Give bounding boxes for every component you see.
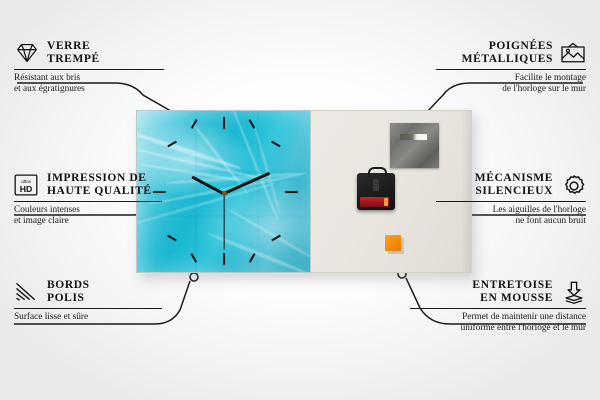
callout-description: Résistant aux bris et aux égratignures xyxy=(14,73,164,96)
callout-description: Permet de maintenir une distance uniform… xyxy=(410,312,586,335)
callout-rule xyxy=(436,69,586,70)
callout-mecanisme-silencieux[interactable]: MÉCANISME SILENCIEUX Les aiguilles de l'… xyxy=(436,172,586,228)
callout-rule xyxy=(436,201,586,202)
callout-entretoise-en-mousse[interactable]: ENTRETOISE EN MOUSSE Permet de maintenir… xyxy=(410,279,586,335)
clock-mechanism xyxy=(357,173,395,210)
picture-frame-icon xyxy=(560,42,586,64)
battery-terminal xyxy=(384,198,388,206)
product-image xyxy=(136,110,472,275)
battery xyxy=(360,197,389,207)
mechanism-hook xyxy=(368,167,387,177)
callout-title: POIGNÉES MÉTALLIQUES xyxy=(462,40,553,66)
gear-icon xyxy=(560,174,586,196)
callout-rule xyxy=(410,308,586,309)
arrow-down-layers-icon xyxy=(560,281,586,303)
callout-rule xyxy=(14,201,162,202)
callout-title: VERRE TREMPÉ xyxy=(47,40,100,66)
callout-description: Couleurs intenses et image claire xyxy=(14,205,164,228)
infographic-canvas: VERRE TREMPÉ Résistant aux bris et aux é… xyxy=(0,0,600,400)
callout-description: Facilite le montage de l'horloge sur le … xyxy=(436,73,586,96)
callout-title: BORDS POLIS xyxy=(47,279,90,305)
svg-text:HD: HD xyxy=(20,184,33,194)
foam-spacer xyxy=(385,235,401,251)
callout-rule xyxy=(14,308,162,309)
callout-verre-trempe[interactable]: VERRE TREMPÉ Résistant aux bris et aux é… xyxy=(14,40,164,96)
hanger-plate xyxy=(390,123,439,168)
callout-title: ENTRETOISE EN MOUSSE xyxy=(472,279,553,305)
callout-impression-haute-qualite[interactable]: ultra HD IMPRESSION DE HAUTE QUALITÉ Cou… xyxy=(14,172,164,228)
polished-edge-icon xyxy=(14,281,40,303)
callout-description: Surface lisse et sûre xyxy=(14,312,164,323)
callout-title: MÉCANISME SILENCIEUX xyxy=(475,172,553,198)
callout-rule xyxy=(14,69,164,70)
tick-mark xyxy=(223,117,225,129)
callout-description: Les aiguilles de l'horloge ne font aucun… xyxy=(436,205,586,228)
tick-mark xyxy=(223,253,225,265)
diamond-icon xyxy=(14,42,40,64)
second-hand xyxy=(223,193,224,249)
hanger-slot xyxy=(400,134,427,140)
callout-title: IMPRESSION DE HAUTE QUALITÉ xyxy=(47,172,152,198)
mechanism-shaft xyxy=(373,179,379,191)
callout-poignees-metalliques[interactable]: POIGNÉES MÉTALLIQUES Facilite le montage… xyxy=(436,40,586,96)
ultra-hd-icon: ultra HD xyxy=(14,174,40,196)
callout-bords-polis[interactable]: BORDS POLIS Surface lisse et sûre xyxy=(14,279,164,323)
tick-mark xyxy=(285,191,298,193)
hand-hub xyxy=(222,191,227,196)
